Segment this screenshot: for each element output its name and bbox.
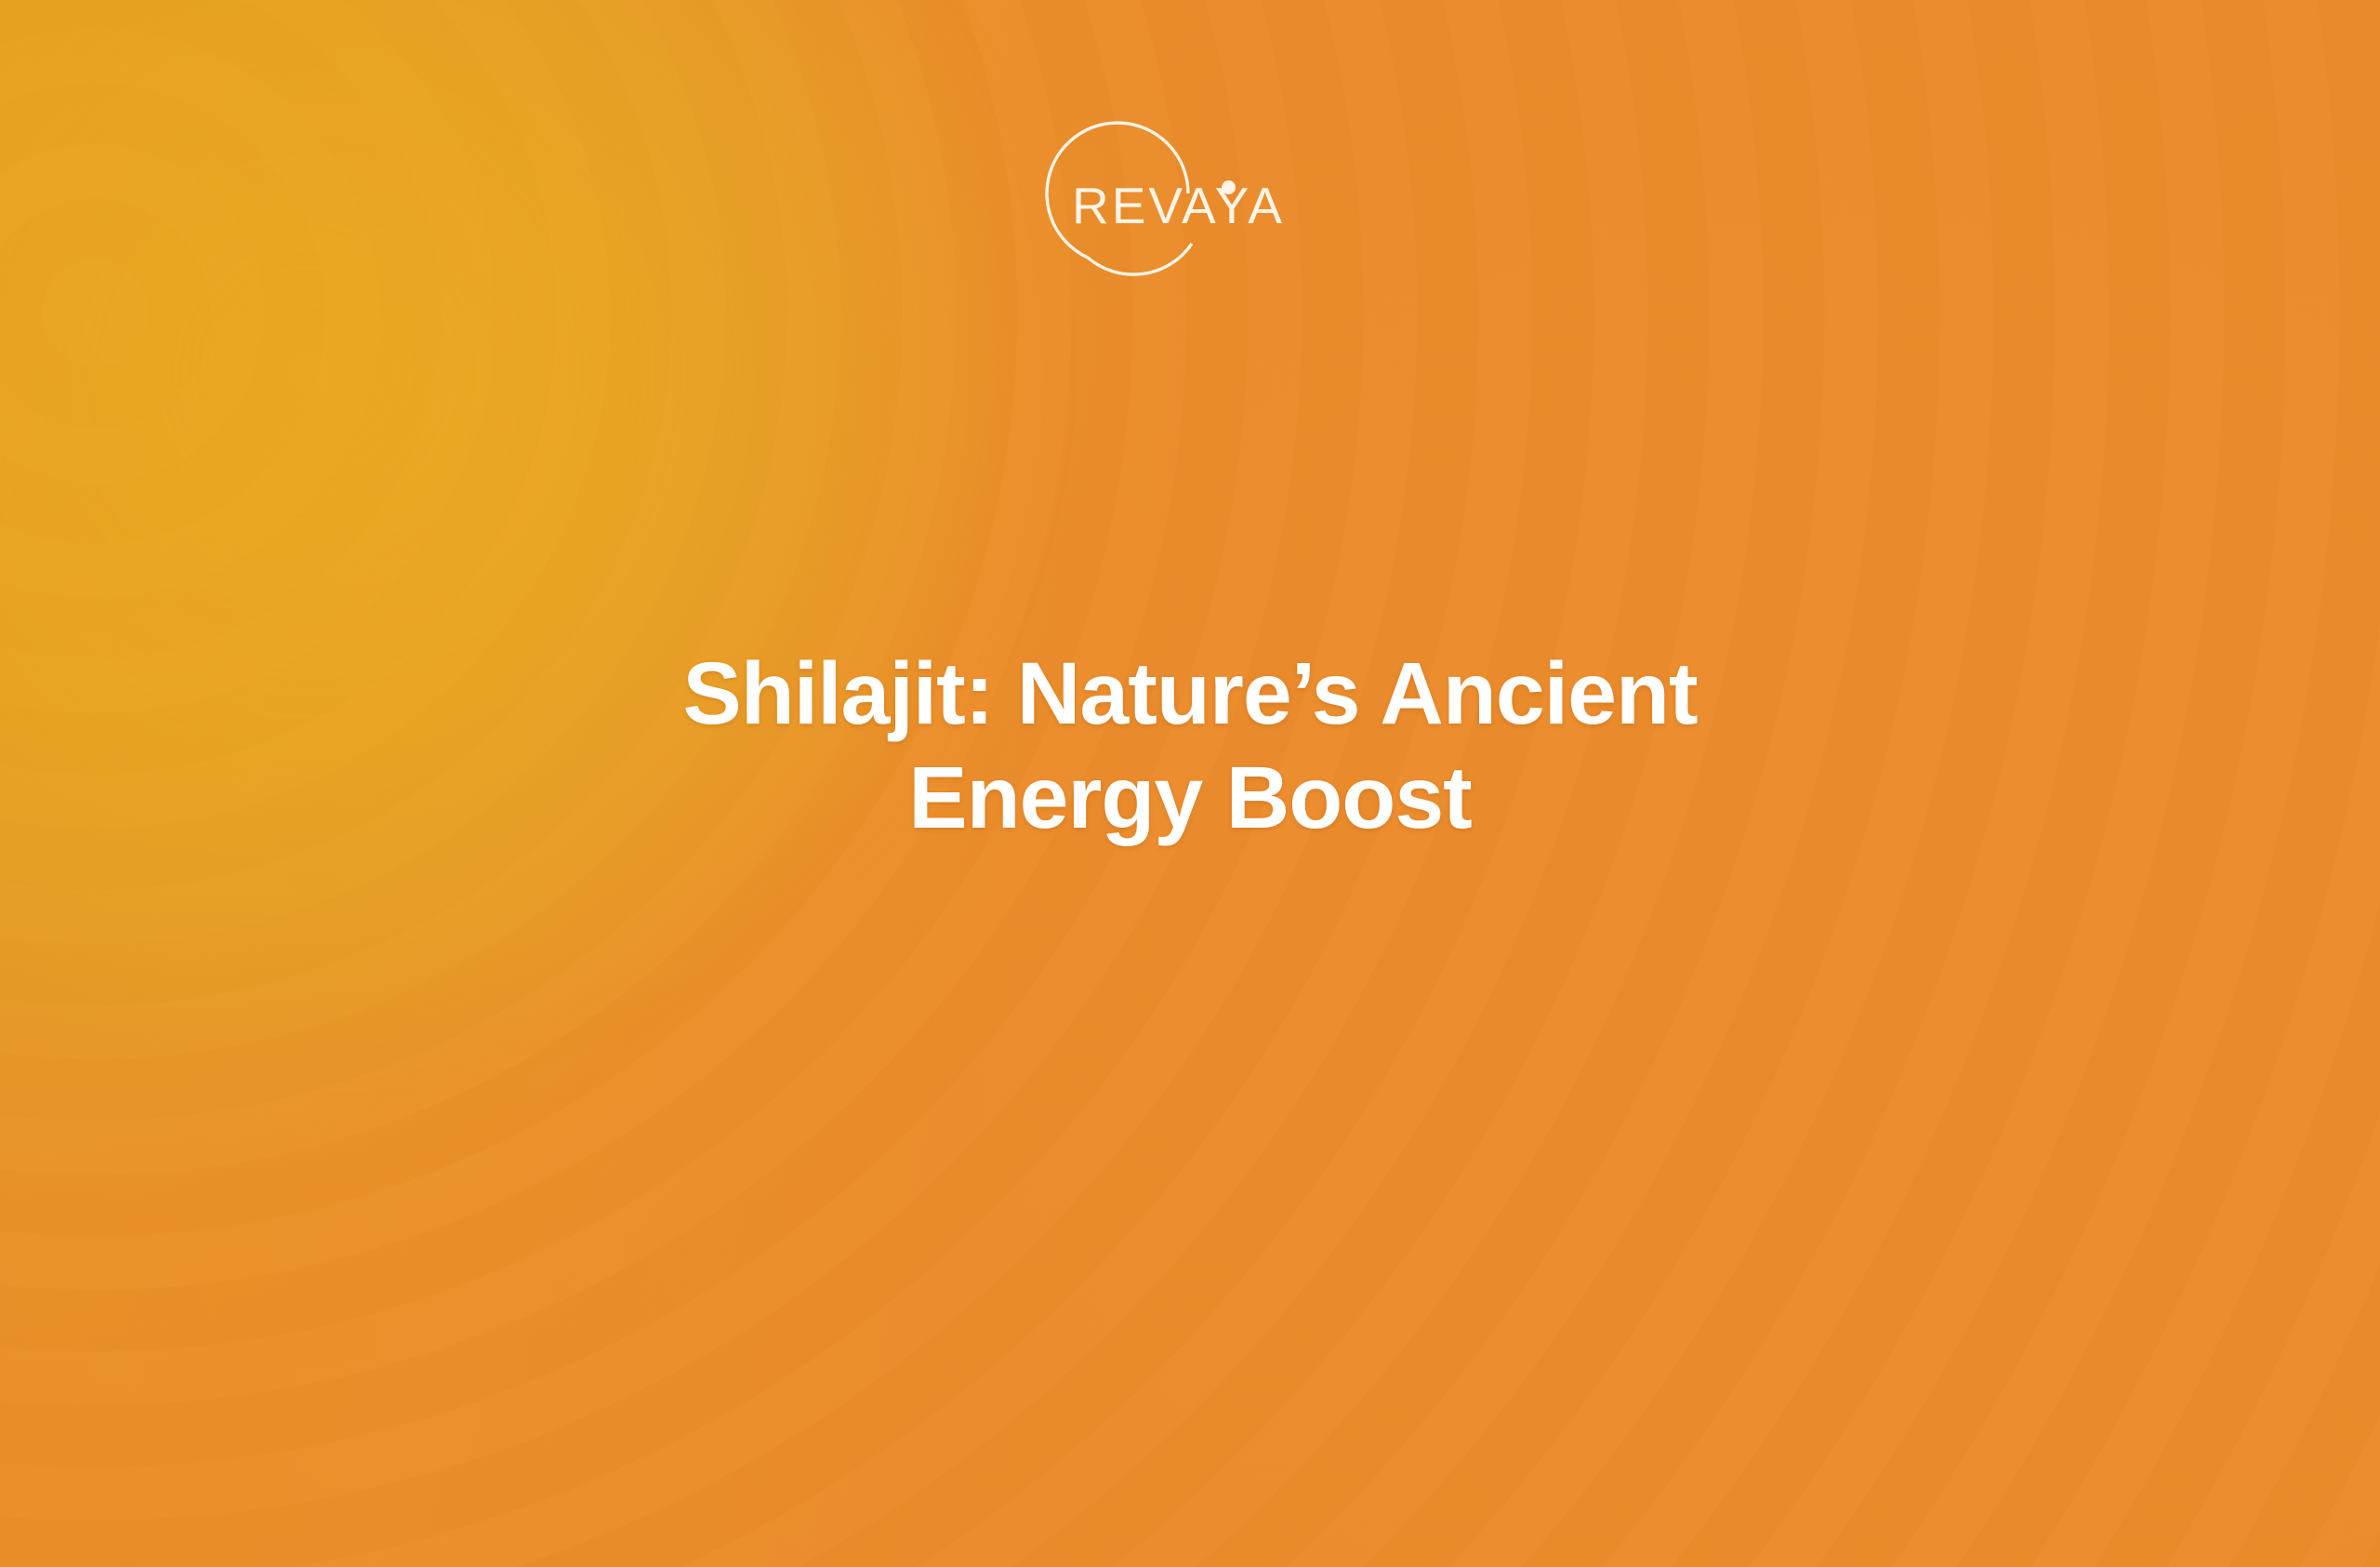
page-title: Shilajit: Nature’s Ancient Energy Boost — [0, 642, 2380, 850]
page-title-line-2: Energy Boost — [242, 746, 2138, 850]
brand-dot-icon — [1222, 180, 1236, 194]
brand-logo-inner: REVAYA — [1051, 139, 1329, 298]
hero-banner: REVAYA Shilajit: Nature’s Ancient Energy… — [0, 0, 2380, 1567]
brand-wordmark: REVAYA — [1072, 180, 1332, 232]
brand-logo[interactable]: REVAYA — [0, 139, 2380, 298]
page-title-line-1: Shilajit: Nature’s Ancient — [242, 642, 2138, 746]
